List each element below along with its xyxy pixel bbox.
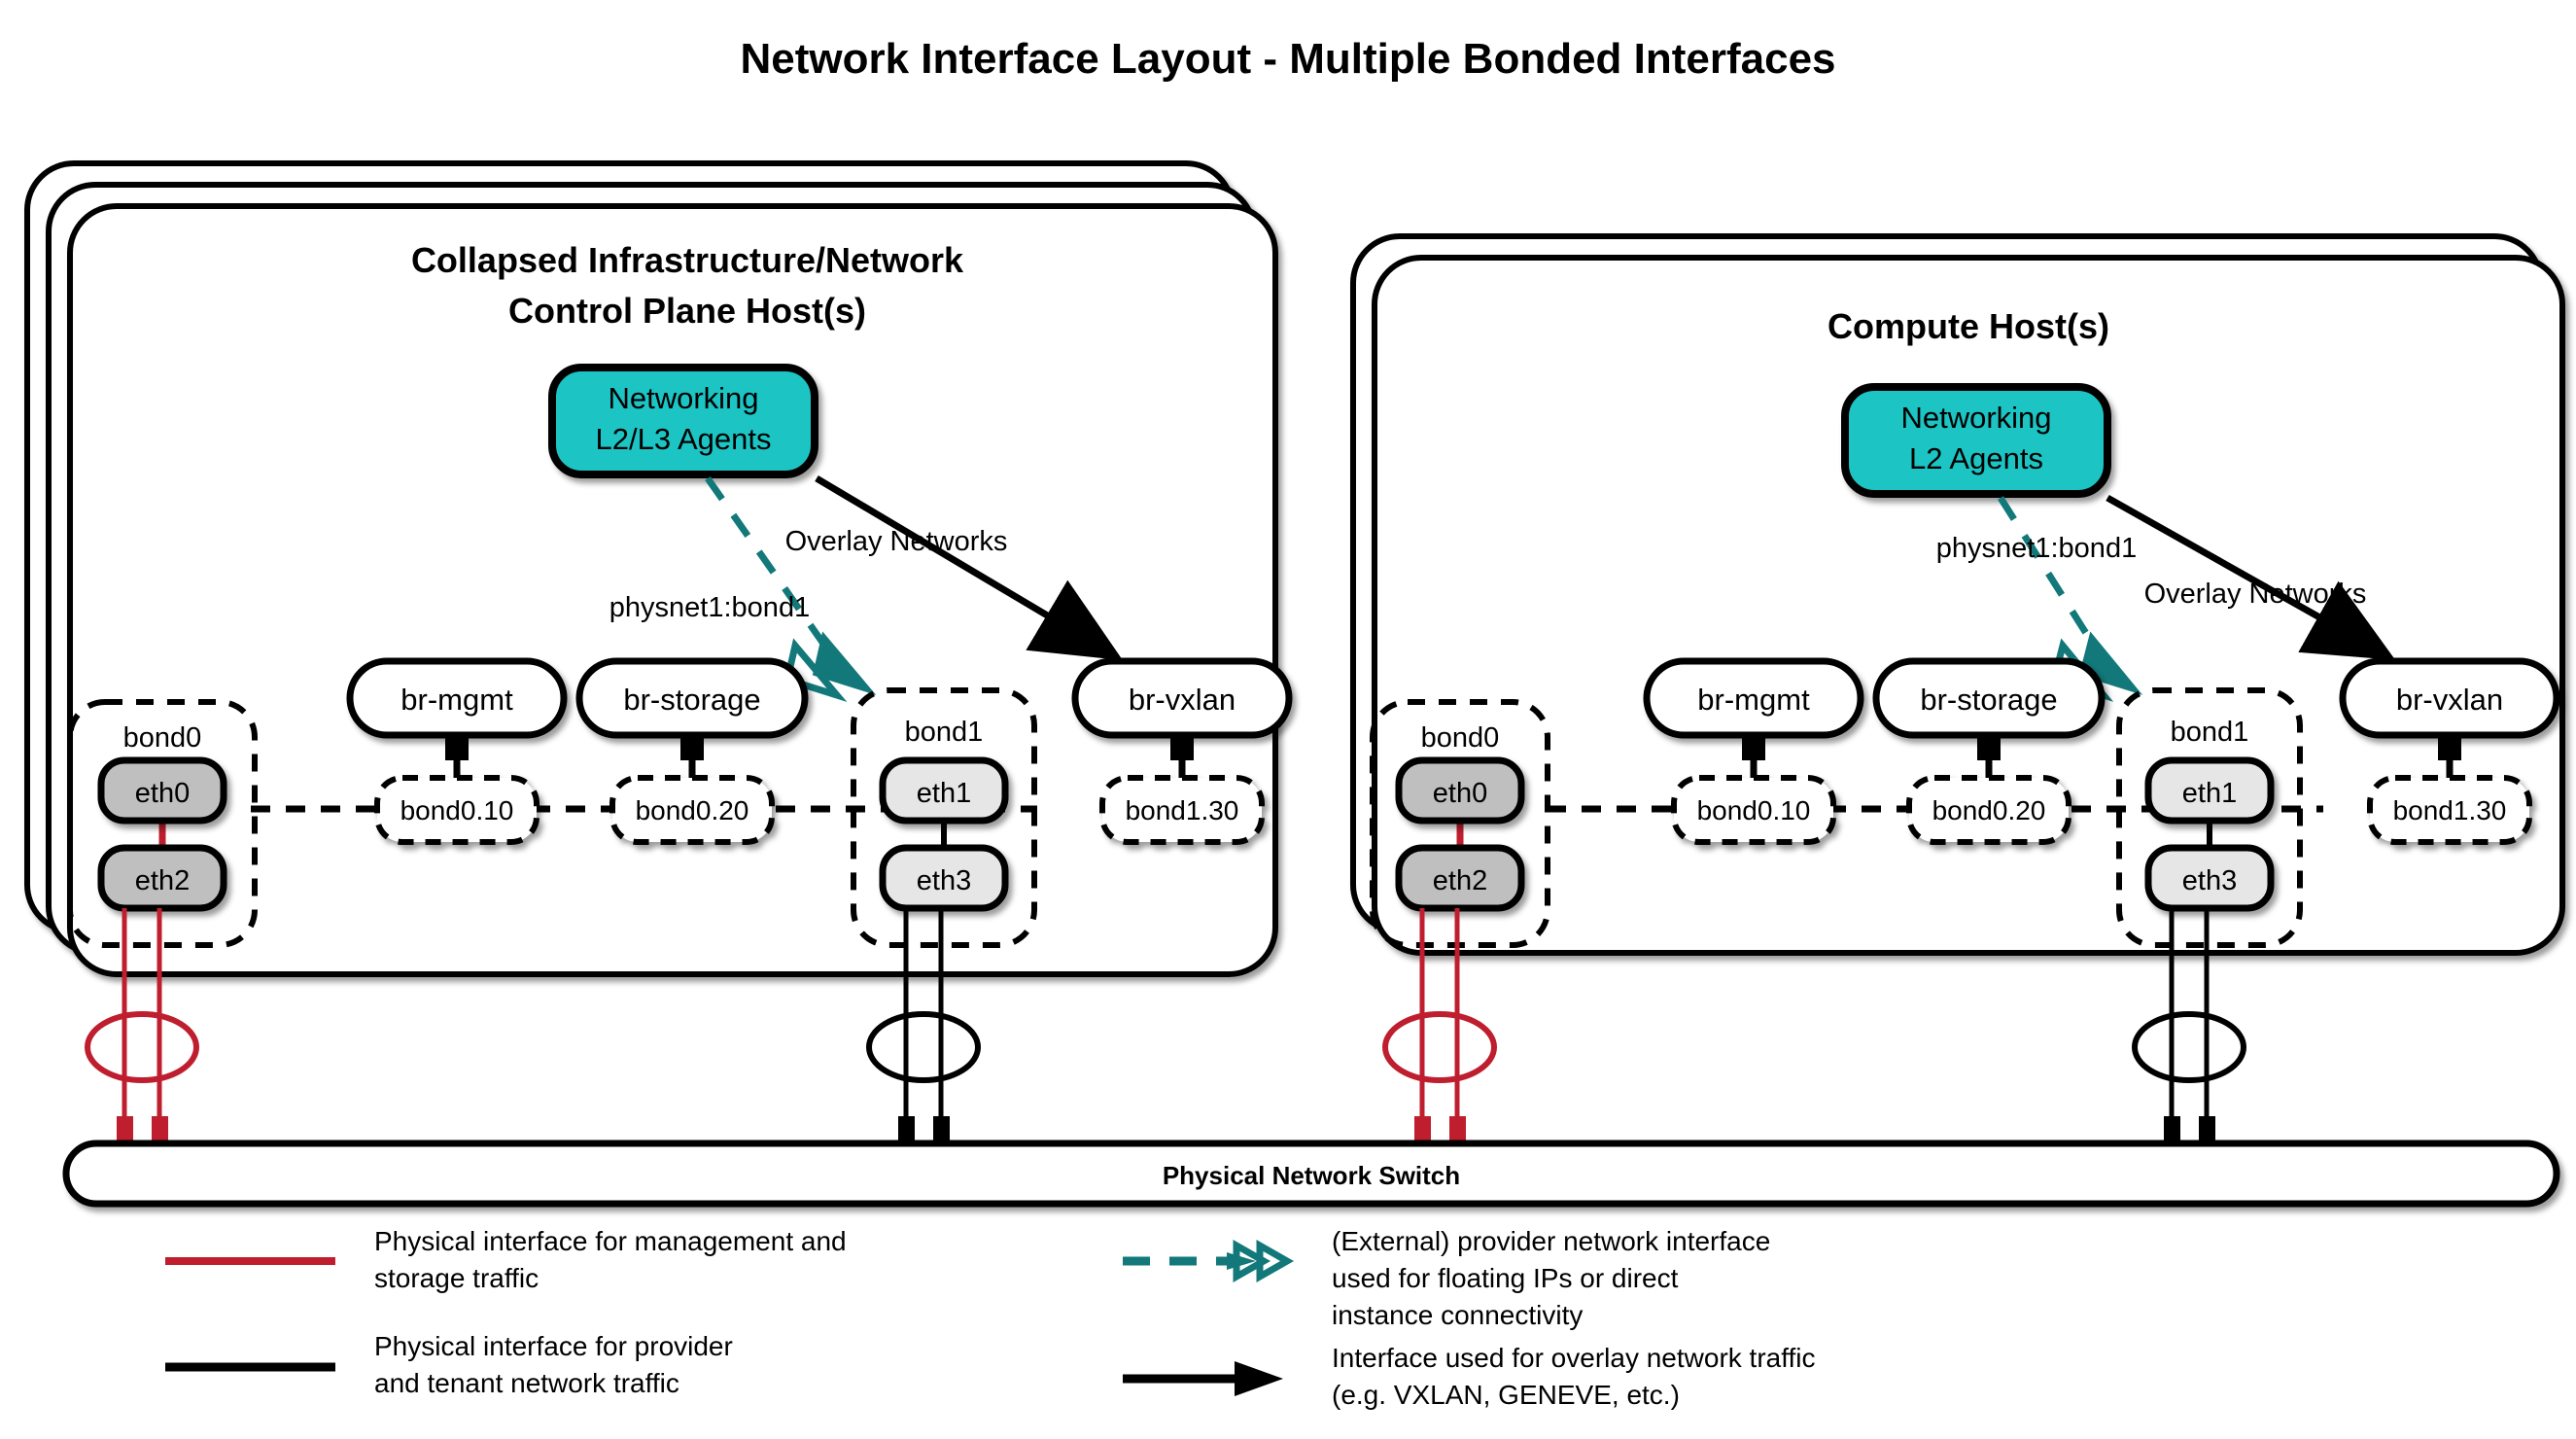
agent-label-line1: Networking xyxy=(1900,401,2051,435)
eth1-label: eth1 xyxy=(917,778,971,809)
br-storage-node[interactable]: br-storage xyxy=(579,661,805,735)
bond0-10-label: bond0.10 xyxy=(400,795,514,825)
host-stack-layer-1 xyxy=(1375,258,2562,953)
bond1-30-label: bond1.30 xyxy=(1126,795,1239,825)
bond1-30-node[interactable]: bond1.30 xyxy=(1102,778,1262,842)
legend-label-line2: and tenant network traffic xyxy=(374,1368,679,1398)
eth1-node[interactable]: eth1 xyxy=(2148,760,2271,821)
agent-label-line2: L2/L3 Agents xyxy=(596,422,772,456)
host-title-line2: Control Plane Host(s) xyxy=(508,291,866,331)
bond0-10-label: bond0.10 xyxy=(1697,795,1811,825)
br-vxlan-label: br-vxlan xyxy=(1129,683,1236,717)
legend-label-line1: (External) provider network interface xyxy=(1332,1226,1770,1256)
eth2-node[interactable]: eth2 xyxy=(101,848,224,908)
bond1-label: bond1 xyxy=(2171,717,2249,748)
overlay-edge-label: Overlay Networks xyxy=(2144,579,2367,610)
host-panel-control-plane[interactable]: Collapsed Infrastructure/Network Control… xyxy=(27,163,1289,1147)
bond0-10-node[interactable]: bond0.10 xyxy=(1674,778,1833,842)
networking-agents-node[interactable]: Networking L2 Agents xyxy=(1845,387,2107,494)
legend-label-line1: Physical interface for management and xyxy=(374,1226,847,1256)
bond0-10-node[interactable]: bond0.10 xyxy=(377,778,537,842)
physnet-edge-label: physnet1:bond1 xyxy=(1936,533,2137,564)
br-mgmt-label: br-mgmt xyxy=(1697,683,1810,717)
bond0-20-node[interactable]: bond0.20 xyxy=(612,778,772,842)
diagram-canvas: Network Interface Layout - Multiple Bond… xyxy=(0,0,2576,1439)
agent-label-line2: L2 Agents xyxy=(1909,441,2043,475)
eth3-label: eth3 xyxy=(2182,865,2237,896)
legend-label-line2: storage traffic xyxy=(374,1263,539,1293)
eth2-label: eth2 xyxy=(135,865,190,896)
eth1-label: eth1 xyxy=(2182,778,2237,809)
bond0-20-node[interactable]: bond0.20 xyxy=(1909,778,2069,842)
bond1-30-label: bond1.30 xyxy=(2393,795,2507,825)
eth0-label: eth0 xyxy=(1433,778,1487,809)
bond0-label: bond0 xyxy=(123,722,202,754)
br-storage-label: br-storage xyxy=(623,683,760,717)
eth1-node[interactable]: eth1 xyxy=(883,760,1005,821)
legend-item-external-provider: (External) provider network interface us… xyxy=(1123,1226,1770,1330)
eth3-node[interactable]: eth3 xyxy=(2148,848,2271,908)
legend-item-overlay-traffic: Interface used for overlay network traff… xyxy=(1123,1343,1816,1410)
eth3-label: eth3 xyxy=(917,865,971,896)
bond1-label: bond1 xyxy=(905,717,984,748)
host-panel-compute[interactable]: Compute Host(s) Networking L2 Agents phy… xyxy=(1353,236,2562,1147)
bond0-20-label: bond0.20 xyxy=(1932,795,2046,825)
br-storage-node[interactable]: br-storage xyxy=(1876,661,2102,735)
network-diagram: Network Interface Layout - Multiple Bond… xyxy=(0,0,2576,1439)
overlay-edge-label: Overlay Networks xyxy=(785,526,1008,557)
legend-item-provider-tenant: Physical interface for provider and tena… xyxy=(165,1331,733,1398)
bond0-label: bond0 xyxy=(1421,722,1500,754)
eth0-node[interactable]: eth0 xyxy=(101,760,224,821)
br-vxlan-node[interactable]: br-vxlan xyxy=(2343,661,2557,735)
physnet-edge-label: physnet1:bond1 xyxy=(609,592,810,623)
bond1-30-node[interactable]: bond1.30 xyxy=(2370,778,2529,842)
eth2-node[interactable]: eth2 xyxy=(1399,848,1521,908)
switch-label: Physical Network Switch xyxy=(1163,1161,1460,1190)
legend: Physical interface for management and st… xyxy=(165,1226,1816,1410)
host-title-line1: Collapsed Infrastructure/Network xyxy=(411,240,964,280)
br-mgmt-node[interactable]: br-mgmt xyxy=(1647,661,1861,735)
legend-label-line2: used for floating IPs or direct xyxy=(1332,1263,1679,1293)
eth0-label: eth0 xyxy=(135,778,190,809)
legend-swatch-dashed-teal-arrow xyxy=(1123,1246,1287,1277)
legend-swatch-solid-black-arrow xyxy=(1123,1361,1283,1396)
legend-label-line2: (e.g. VXLAN, GENEVE, etc.) xyxy=(1332,1380,1680,1410)
br-storage-label: br-storage xyxy=(1920,683,2057,717)
legend-label-line3: instance connectivity xyxy=(1332,1300,1583,1330)
legend-label-line1: Physical interface for provider xyxy=(374,1331,733,1361)
br-mgmt-label: br-mgmt xyxy=(400,683,513,717)
eth0-node[interactable]: eth0 xyxy=(1399,760,1521,821)
physical-network-switch[interactable]: Physical Network Switch xyxy=(66,1143,2557,1204)
host-title-line1: Compute Host(s) xyxy=(1828,306,2109,346)
bond0-20-label: bond0.20 xyxy=(636,795,749,825)
eth2-label: eth2 xyxy=(1433,865,1487,896)
br-mgmt-node[interactable]: br-mgmt xyxy=(350,661,564,735)
legend-item-mgmt-storage: Physical interface for management and st… xyxy=(165,1226,847,1293)
networking-agents-node[interactable]: Networking L2/L3 Agents xyxy=(552,368,815,474)
agent-label-line1: Networking xyxy=(608,381,758,415)
legend-label-line1: Interface used for overlay network traff… xyxy=(1332,1343,1816,1373)
br-vxlan-label: br-vxlan xyxy=(2396,683,2503,717)
br-vxlan-node[interactable]: br-vxlan xyxy=(1075,661,1289,735)
page-title: Network Interface Layout - Multiple Bond… xyxy=(740,35,1835,83)
eth3-node[interactable]: eth3 xyxy=(883,848,1005,908)
